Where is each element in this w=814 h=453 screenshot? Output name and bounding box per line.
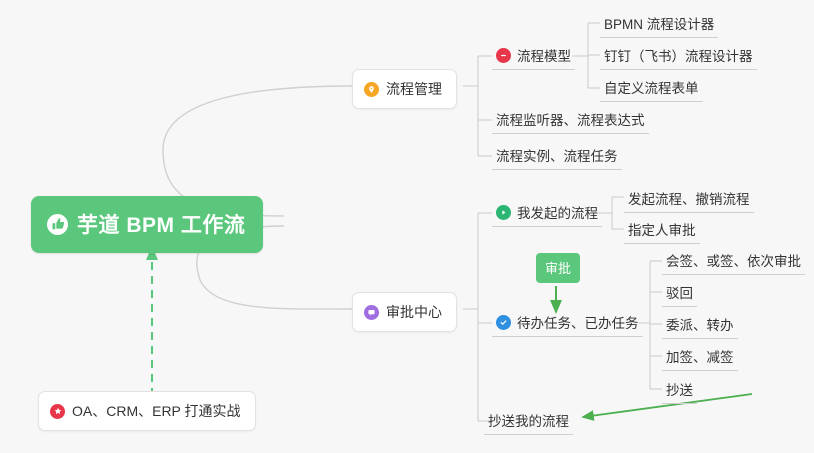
node-my-initiated-process[interactable]: 我发起的流程 xyxy=(492,199,602,227)
approval-tag: 审批 xyxy=(536,253,580,283)
node-start-cancel-process[interactable]: 发起流程、撤销流程 xyxy=(624,185,754,213)
node-label: 会签、或签、依次审批 xyxy=(666,250,801,270)
node-reject[interactable]: 驳回 xyxy=(662,279,697,307)
node-custom-form[interactable]: 自定义流程表单 xyxy=(600,74,703,102)
mindmap-canvas: 芋道 BPM 工作流 流程管理 流程模型 BPMN 流程设计器 钉钉（飞书）流程… xyxy=(0,0,814,453)
node-process-model[interactable]: 流程模型 xyxy=(492,42,575,70)
branch-label: 流程管理 xyxy=(386,79,442,99)
node-label: 流程实例、流程任务 xyxy=(496,145,618,165)
footnote-node[interactable]: OA、CRM、ERP 打通实战 xyxy=(38,391,256,431)
branch-process-management[interactable]: 流程管理 xyxy=(352,69,457,109)
node-label: 委派、转办 xyxy=(666,314,734,334)
message-icon xyxy=(364,305,379,320)
node-todo-done-tasks[interactable]: 待办任务、已办任务 xyxy=(492,309,643,337)
branch-label: 审批中心 xyxy=(386,302,442,322)
minus-circle-icon xyxy=(496,48,511,63)
node-label: 流程模型 xyxy=(517,45,571,65)
footnote-label: OA、CRM、ERP 打通实战 xyxy=(72,401,241,421)
root-node[interactable]: 芋道 BPM 工作流 xyxy=(31,196,263,253)
node-carbon-copy[interactable]: 抄送 xyxy=(662,376,697,404)
node-label: 钉钉（飞书）流程设计器 xyxy=(604,45,753,65)
node-instance-task[interactable]: 流程实例、流程任务 xyxy=(492,142,622,170)
node-label: 抄送 xyxy=(666,379,693,399)
node-countersign[interactable]: 会签、或签、依次审批 xyxy=(662,247,805,275)
check-circle-icon xyxy=(496,315,511,330)
node-label: 流程监听器、流程表达式 xyxy=(496,109,645,129)
node-cc-to-me[interactable]: 抄送我的流程 xyxy=(484,407,573,435)
approval-tag-label: 审批 xyxy=(545,261,571,276)
node-label: 驳回 xyxy=(666,282,693,302)
node-label: 待办任务、已办任务 xyxy=(517,312,639,332)
thumbs-up-icon xyxy=(47,214,68,235)
node-label: 抄送我的流程 xyxy=(488,410,569,430)
star-circle-icon xyxy=(50,404,65,419)
branch-approval-center[interactable]: 审批中心 xyxy=(352,292,457,332)
node-delegate-transfer[interactable]: 委派、转办 xyxy=(662,311,738,339)
node-bpmn-designer[interactable]: BPMN 流程设计器 xyxy=(600,10,718,38)
node-label: 指定人审批 xyxy=(628,219,696,239)
node-dingtalk-designer[interactable]: 钉钉（飞书）流程设计器 xyxy=(600,42,757,70)
play-circle-icon xyxy=(496,205,511,220)
root-label: 芋道 BPM 工作流 xyxy=(77,209,245,239)
node-assignee-approval[interactable]: 指定人审批 xyxy=(624,216,700,244)
node-listener-expression[interactable]: 流程监听器、流程表达式 xyxy=(492,106,649,134)
location-pin-icon xyxy=(364,82,379,97)
node-label: 自定义流程表单 xyxy=(604,77,699,97)
node-label: 发起流程、撤销流程 xyxy=(628,188,750,208)
node-label: BPMN 流程设计器 xyxy=(604,13,714,33)
node-label: 我发起的流程 xyxy=(517,202,598,222)
node-add-remove-sign[interactable]: 加签、减签 xyxy=(662,343,738,371)
node-label: 加签、减签 xyxy=(666,346,734,366)
